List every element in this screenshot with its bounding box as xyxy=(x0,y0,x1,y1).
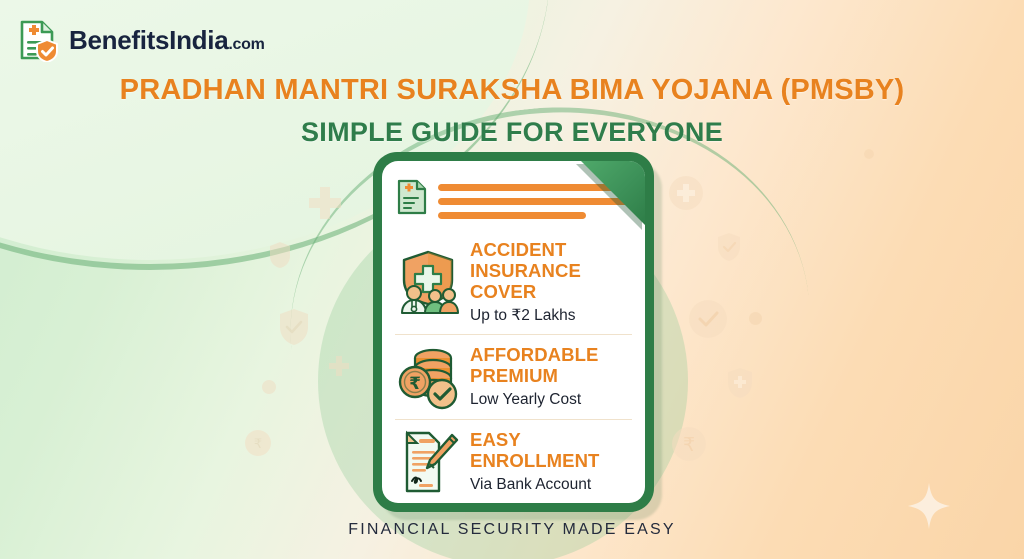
svg-text:₹: ₹ xyxy=(254,437,262,452)
headline-block: PRADHAN MANTRI SURAKSHA BIMA YOJANA (PMS… xyxy=(0,74,1024,148)
rupee-coin-shape-icon: ₹ xyxy=(672,427,706,461)
brand-tld-text: .com xyxy=(228,36,264,53)
dot-shape-icon xyxy=(262,380,276,394)
document-pen-signature-icon xyxy=(397,429,459,495)
feature-subtitle: Via Bank Account xyxy=(470,476,630,494)
headline-primary: PRADHAN MANTRI SURAKSHA BIMA YOJANA (PMS… xyxy=(0,74,1024,107)
circle-check-shape-icon xyxy=(689,300,727,338)
card-body: ACCIDENT INSURANCE COVER Up to ₹2 Lakhs xyxy=(382,161,645,503)
feature-text: ACCIDENT INSURANCE COVER Up to ₹2 Lakhs xyxy=(470,240,630,325)
shield-check-shape-icon xyxy=(716,232,742,262)
medical-document-icon xyxy=(397,179,427,215)
feature-list: ACCIDENT INSURANCE COVER Up to ₹2 Lakhs xyxy=(395,231,632,503)
feature-title: ACCIDENT INSURANCE COVER xyxy=(470,239,581,302)
feature-item: EASY ENROLLMENT Via Bank Account xyxy=(395,419,632,503)
svg-text:₹: ₹ xyxy=(409,374,421,394)
feature-title: AFFORDABLE PREMIUM xyxy=(470,344,598,386)
footer-tagline: FINANCIAL SECURITY MADE EASY xyxy=(0,521,1024,539)
shield-shape-icon xyxy=(268,241,292,269)
cross-shape-icon xyxy=(326,353,352,379)
circle-plus-shape-icon xyxy=(669,176,703,210)
shield-family-icon xyxy=(397,249,459,315)
dot-shape-icon xyxy=(749,312,762,325)
brand-name: BenefitsIndia.com xyxy=(69,25,265,56)
cross-shape-icon xyxy=(305,183,345,223)
brand-name-text: BenefitsIndia xyxy=(69,25,228,55)
feature-subtitle: Up to ₹2 Lakhs xyxy=(470,307,630,325)
feature-title: EASY ENROLLMENT xyxy=(470,429,599,471)
card-border: ACCIDENT INSURANCE COVER Up to ₹2 Lakhs xyxy=(373,152,654,512)
shield-check-shape-icon xyxy=(277,307,311,347)
feature-item: ACCIDENT INSURANCE COVER Up to ₹2 Lakhs xyxy=(395,231,632,334)
brand-logo[interactable]: BenefitsIndia.com xyxy=(16,18,265,62)
shield-plus-shape-icon xyxy=(726,367,754,399)
feature-subtitle: Low Yearly Cost xyxy=(470,391,630,409)
headline-secondary: SIMPLE GUIDE FOR EVERYONE xyxy=(0,117,1024,148)
feature-item: ₹ AFFORDABLE PREMIUM Low Yearly Cost xyxy=(395,334,632,419)
rupee-coin-shape-icon: ₹ xyxy=(245,430,271,456)
feature-text: EASY ENROLLMENT Via Bank Account xyxy=(470,430,630,494)
document-shield-icon xyxy=(16,18,60,62)
header-bar xyxy=(438,198,630,205)
feature-text: AFFORDABLE PREMIUM Low Yearly Cost xyxy=(470,345,630,409)
dot-shape-icon xyxy=(864,149,874,159)
coins-rupee-check-icon: ₹ xyxy=(397,344,459,410)
header-bar xyxy=(438,212,586,219)
feature-card: ACCIDENT INSURANCE COVER Up to ₹2 Lakhs xyxy=(373,152,654,512)
svg-text:₹: ₹ xyxy=(683,434,695,456)
